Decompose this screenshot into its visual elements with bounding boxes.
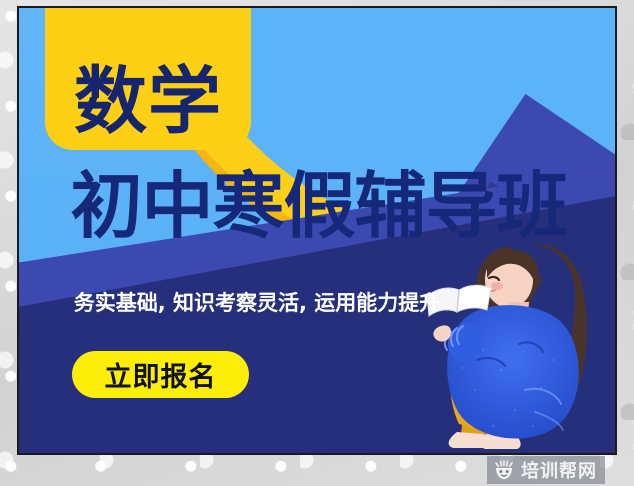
subtitle: 务实基础, 知识考察灵活, 运用能力提升	[37, 287, 477, 317]
hand	[434, 325, 451, 341]
headline-text: 初中寒假辅导班	[33, 170, 605, 243]
enroll-now-button[interactable]: 立即报名	[72, 351, 249, 398]
smiling-sun-face-icon	[493, 460, 515, 480]
course-banner: 数学初中寒假辅导班务实基础, 知识考察灵活, 运用能力提升立即报名	[17, 6, 617, 455]
headline: 初中寒假辅导班	[33, 170, 605, 243]
site-watermark: 培训帮网	[487, 456, 605, 484]
cheek-blush	[491, 282, 503, 290]
enroll-now-label: 立即报名	[105, 355, 217, 394]
woman-reading-illustration	[423, 240, 615, 453]
subject-badge-label: 数学	[74, 65, 222, 138]
subtitle-text: 务实基础, 知识考察灵活, 运用能力提升	[74, 291, 441, 315]
banner-canvas: 数学初中寒假辅导班务实基础, 知识考察灵活, 运用能力提升立即报名	[19, 8, 615, 453]
screenshot-root: 数学初中寒假辅导班务实基础, 知识考察灵活, 运用能力提升立即报名 培训帮网	[0, 0, 634, 486]
subject-badge: 数学	[45, 8, 251, 150]
watermark-text: 培训帮网	[521, 457, 597, 483]
